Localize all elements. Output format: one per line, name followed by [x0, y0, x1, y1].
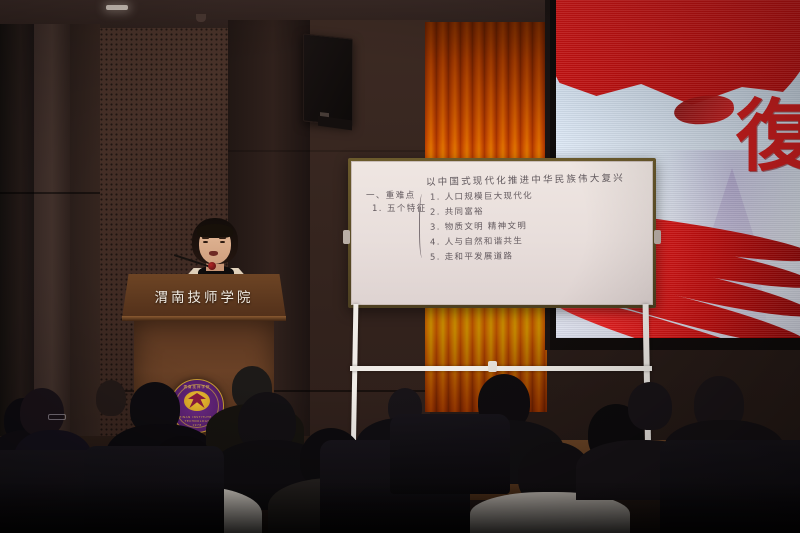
lecture-hall-photo: 復 以中国式现代化推进中华民族伟大复兴 一、重难点 1. 五个特征 1. 人口规… [0, 0, 800, 533]
microphone-icon [208, 262, 216, 270]
chair-back [390, 414, 510, 494]
eyeglasses-icon [48, 414, 66, 420]
whiteboard-item-list: 1. 人口规模巨大现代化 2. 共同富裕 3. 物质文明 精神文明 4. 人与自… [430, 190, 533, 265]
loudspeaker-icon [303, 33, 353, 126]
emblem-top-text: 渭南技师学院 [171, 384, 223, 389]
whiteboard-surface: 以中国式现代化推进中华民族伟大复兴 一、重难点 1. 五个特征 1. 人口规模巨… [351, 161, 653, 305]
list-item: 3. 物质文明 精神文明 [430, 219, 533, 235]
wall-panel-2 [34, 24, 70, 444]
wall-trim-upper [228, 150, 430, 152]
wall-trim-left [0, 192, 100, 194]
ceiling-mount [196, 14, 206, 22]
whiteboard-adjust-knob[interactable] [488, 361, 497, 372]
audience-head [628, 382, 672, 430]
whiteboard-heading-line-1: 一、重难点 [366, 190, 427, 203]
list-item: 1. 人口规模巨大现代化 [430, 189, 533, 205]
chair-back [84, 446, 224, 533]
wall-panel-3 [70, 24, 100, 444]
chair-back [660, 440, 800, 533]
presenter-bangs [197, 224, 233, 238]
list-item: 5. 走和平发展道路 [430, 249, 533, 265]
whiteboard-brace [419, 194, 427, 258]
list-item: 2. 共同富裕 [430, 204, 533, 220]
podium-institution-name: 渭南技师学院 [122, 286, 286, 306]
presenter-eyebrow-left [202, 237, 209, 239]
presenter-mouth [209, 251, 218, 256]
whiteboard-heading: 一、重难点 1. 五个特征 [366, 190, 427, 216]
whiteboard-crossbar [350, 366, 652, 371]
whiteboard-frame: 以中国式现代化推进中华民族伟大复兴 一、重难点 1. 五个特征 1. 人口规模巨… [348, 158, 656, 308]
wall-panel-1 [0, 24, 34, 444]
presenter-eyebrow-right [219, 237, 226, 239]
audience-head [96, 380, 126, 416]
list-item: 4. 人与自然和谐共生 [430, 234, 533, 250]
screen-headline-character: 復 [736, 98, 800, 176]
whiteboard-pivot-right[interactable] [654, 230, 661, 244]
audience-head [20, 388, 64, 436]
ceiling-light [106, 5, 128, 10]
whiteboard-title: 以中国式现代化推进中华民族伟大复兴 [426, 170, 625, 188]
whiteboard-pivot-left[interactable] [343, 230, 350, 244]
